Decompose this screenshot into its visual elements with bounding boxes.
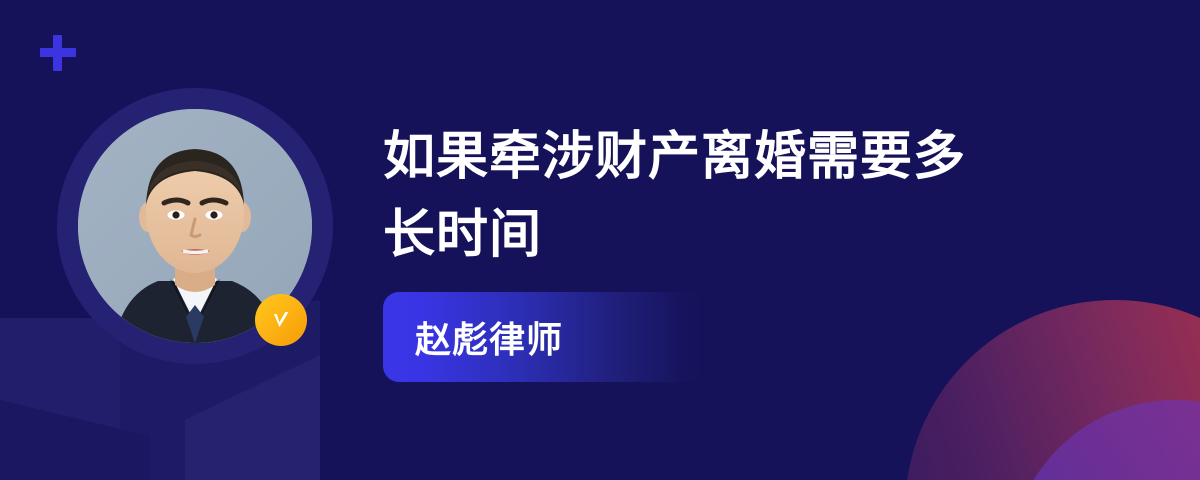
page-title: 如果牵涉财产离婚需要多 长时间: [383, 118, 1083, 274]
verified-check-icon: [255, 294, 307, 346]
plus-icon: [40, 35, 76, 71]
headline-block: 如果牵涉财产离婚需要多 长时间: [383, 118, 1083, 274]
author-button[interactable]: 赵彪律师: [383, 292, 708, 382]
lawyer-qa-banner: 如果牵涉财产离婚需要多 长时间 赵彪律师: [0, 0, 1200, 480]
avatar: [57, 88, 333, 364]
check-glyph: [268, 307, 294, 333]
